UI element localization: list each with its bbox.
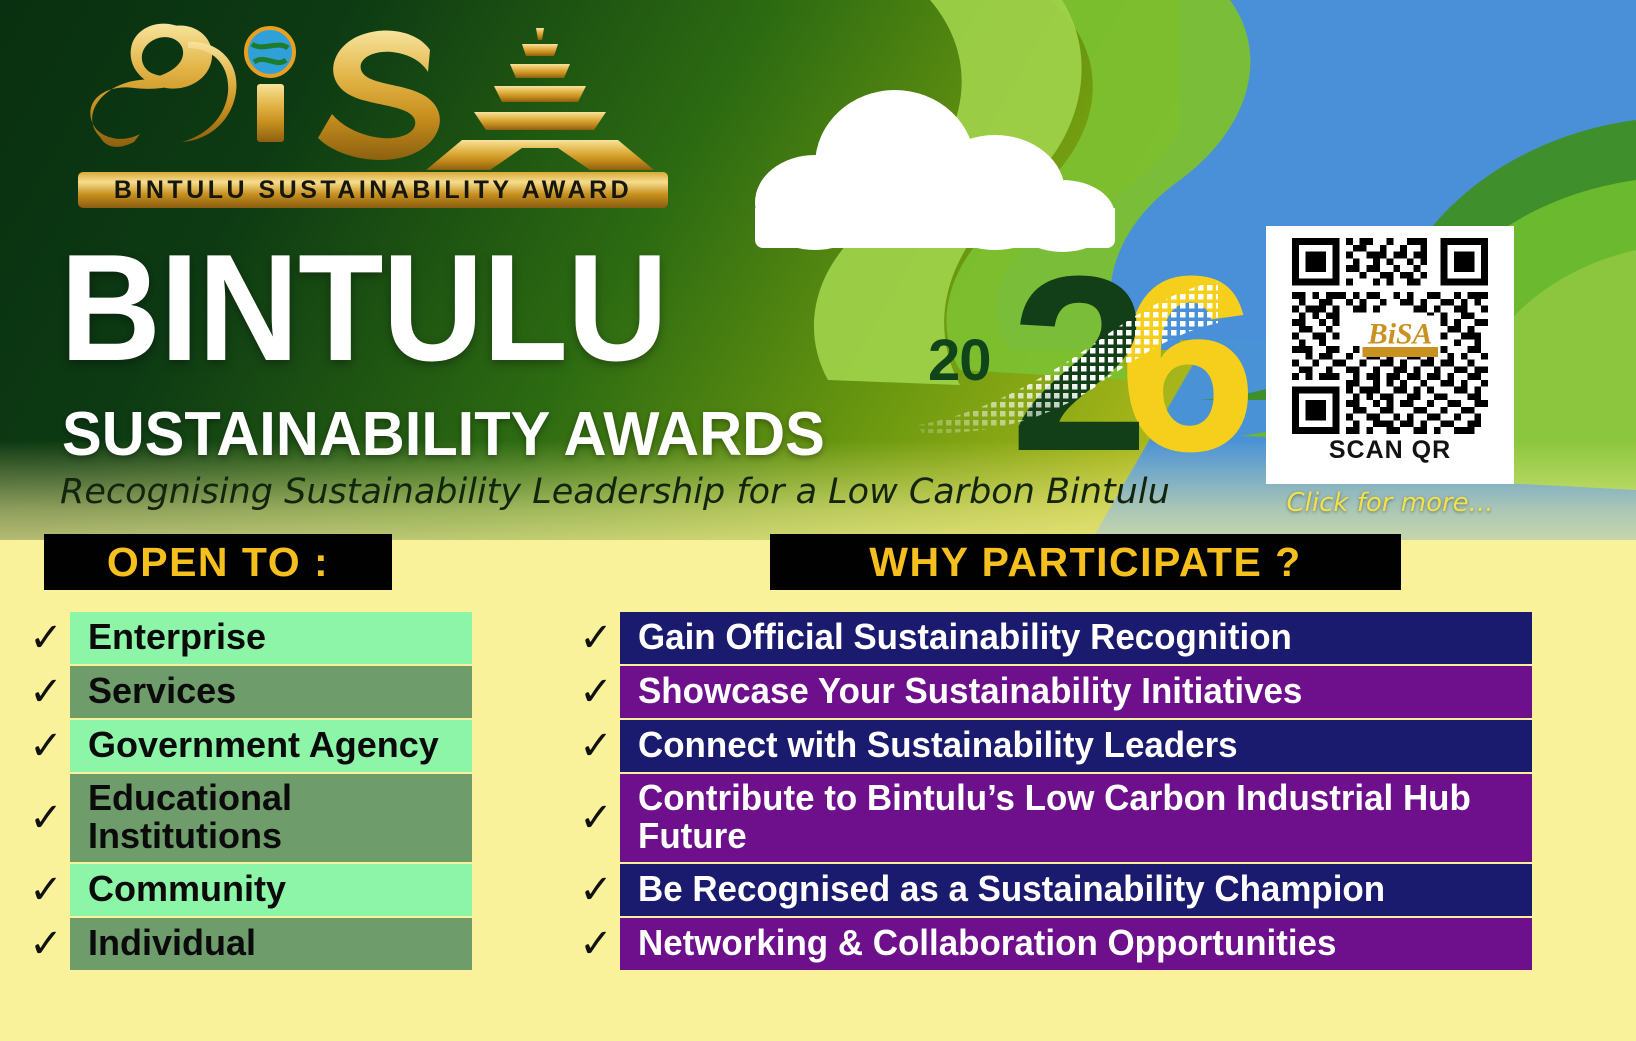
list-item-label: Enterprise [88, 618, 266, 656]
check-icon: ✓ [22, 612, 70, 664]
list-item[interactable]: ✓ Showcase Your Sustainability Initiativ… [572, 666, 1532, 718]
list-item-bar[interactable]: Educational Institutions [70, 774, 472, 862]
page-title: BINTULU [60, 232, 667, 384]
svg-text:BiSA: BiSA [1367, 318, 1432, 350]
list-item-label: Services [88, 672, 236, 710]
section-header-open-to-text: OPEN TO : [107, 539, 329, 586]
list-item[interactable]: ✓ Community [22, 864, 472, 916]
check-icon: ✓ [572, 864, 620, 916]
poster-root: BINTULU SUSTAINABILITY AWARD BINTULU SUS… [0, 0, 1636, 1041]
list-item[interactable]: ✓ Connect with Sustainability Leaders [572, 720, 1532, 772]
check-icon: ✓ [22, 720, 70, 772]
list-item-bar[interactable]: Showcase Your Sustainability Initiatives [620, 666, 1532, 718]
list-item-label: Educational Institutions [88, 779, 472, 855]
check-icon: ✓ [22, 864, 70, 916]
list-item-bar[interactable]: Networking & Collaboration Opportunities [620, 918, 1532, 970]
section-header-why-participate-text: WHY PARTICIPATE ? [869, 539, 1301, 586]
list-item-label: Be Recognised as a Sustainability Champi… [638, 870, 1385, 908]
bisa-logo-mark [70, 22, 670, 172]
list-item-bar[interactable]: Enterprise [70, 612, 472, 664]
halftone-swoosh-icon [918, 275, 1218, 435]
list-item-bar[interactable]: Contribute to Bintulu’s Low Carbon Indus… [620, 774, 1532, 862]
list-item-bar[interactable]: Community [70, 864, 472, 916]
qr-code-card[interactable]: BiSA SCAN QR [1266, 226, 1514, 484]
list-item[interactable]: ✓ Government Agency [22, 720, 472, 772]
check-icon: ✓ [572, 720, 620, 772]
list-item-label: Contribute to Bintulu’s Low Carbon Indus… [638, 779, 1505, 855]
cloud-graphic [755, 80, 1115, 240]
page-subtitle: SUSTAINABILITY AWARDS [62, 404, 825, 466]
section-header-why-participate: WHY PARTICIPATE ? [770, 534, 1401, 590]
year-badge-2026: 6 2 20 [918, 235, 1218, 505]
list-item[interactable]: ✓ Educational Institutions [22, 774, 472, 862]
check-icon: ✓ [572, 612, 620, 664]
list-item-label: Community [88, 870, 286, 908]
section-header-open-to: OPEN TO : [44, 534, 392, 590]
open-to-list: ✓ Enterprise ✓ Services ✓ Government Age… [22, 612, 472, 972]
qr-scan-label: SCAN QR [1278, 436, 1502, 465]
bisa-logo-banner-text: BINTULU SUSTAINABILITY AWARD [114, 176, 632, 205]
bisa-logo-banner: BINTULU SUSTAINABILITY AWARD [78, 172, 668, 208]
list-item[interactable]: ✓ Be Recognised as a Sustainability Cham… [572, 864, 1532, 916]
list-item-label: Showcase Your Sustainability Initiatives [638, 672, 1302, 710]
list-item-bar[interactable]: Services [70, 666, 472, 718]
list-item-bar[interactable]: Individual [70, 918, 472, 970]
list-item[interactable]: ✓ Services [22, 666, 472, 718]
list-item[interactable]: ✓ Contribute to Bintulu’s Low Carbon Ind… [572, 774, 1532, 862]
list-item-label: Gain Official Sustainability Recognition [638, 618, 1292, 656]
check-icon: ✓ [572, 666, 620, 718]
list-item-bar[interactable]: Be Recognised as a Sustainability Champi… [620, 864, 1532, 916]
list-item-label: Individual [88, 924, 256, 962]
qr-code-icon[interactable]: BiSA [1278, 238, 1502, 434]
bisa-logo: BINTULU SUSTAINABILITY AWARD [70, 22, 670, 212]
check-icon: ✓ [22, 918, 70, 970]
check-icon: ✓ [22, 774, 70, 862]
list-item-label: Networking & Collaboration Opportunities [638, 924, 1336, 962]
check-icon: ✓ [572, 774, 620, 862]
list-item[interactable]: ✓ Networking & Collaboration Opportuniti… [572, 918, 1532, 970]
list-item-label: Government Agency [88, 726, 439, 764]
why-participate-list: ✓ Gain Official Sustainability Recogniti… [572, 612, 1532, 972]
qr-click-caption[interactable]: Click for more... [1266, 488, 1514, 518]
list-item-label: Connect with Sustainability Leaders [638, 726, 1238, 764]
list-item-bar[interactable]: Connect with Sustainability Leaders [620, 720, 1532, 772]
check-icon: ✓ [572, 918, 620, 970]
list-item[interactable]: ✓ Gain Official Sustainability Recogniti… [572, 612, 1532, 664]
list-item-bar[interactable]: Gain Official Sustainability Recognition [620, 612, 1532, 664]
list-item[interactable]: ✓ Enterprise [22, 612, 472, 664]
list-item[interactable]: ✓ Individual [22, 918, 472, 970]
check-icon: ✓ [22, 666, 70, 718]
list-item-bar[interactable]: Government Agency [70, 720, 472, 772]
